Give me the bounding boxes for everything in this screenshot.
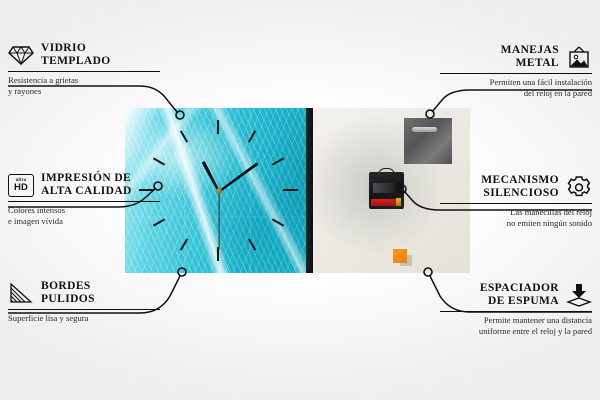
ultra-hd-icon: ultra HD — [8, 172, 34, 198]
feature-subtitle: Colores intensos e imagen vívida — [8, 205, 160, 226]
foam-spacer-pad — [393, 249, 407, 263]
glass-side-edge — [306, 108, 313, 273]
feature-title: VIDRIO TEMPLADO — [41, 42, 111, 68]
foam-spacer-arrow-icon — [566, 282, 592, 308]
feature-subtitle: Superficie lisa y segura — [8, 313, 160, 324]
feature-title: BORDES PULIDOS — [41, 280, 95, 306]
feature-metal-handles: MANEJAS METAL Permiten una fácil instala… — [440, 44, 592, 98]
diamond-icon — [8, 42, 34, 68]
feature-title: MECANISMO SILENCIOSO — [481, 174, 559, 200]
feature-title: MANEJAS METAL — [501, 44, 559, 70]
feature-hd-printing: ultra HD IMPRESIÓN DE ALTA CALIDAD Color… — [8, 172, 160, 226]
feature-divider — [8, 71, 160, 72]
metal-hanger-plate — [404, 118, 452, 164]
feature-subtitle: Permiten una fácil instalación del reloj… — [440, 77, 592, 98]
mechanism-label-detail — [373, 183, 395, 193]
feature-divider — [440, 311, 592, 312]
feature-divider — [440, 73, 592, 74]
ultra-hd-icon-hd-text: HD — [14, 183, 28, 193]
wall-frame-hanger-icon — [566, 44, 592, 70]
feature-tempered-glass: VIDRIO TEMPLADO Resistencia a grietas y … — [8, 42, 160, 96]
feature-polished-edges: BORDES PULIDOS Superficie lisa y segura — [8, 280, 160, 324]
feature-divider — [440, 203, 592, 204]
hanger-keyhole-slot — [412, 127, 437, 132]
battery — [371, 199, 399, 206]
polished-edge-icon — [8, 280, 34, 306]
feature-silent-mechanism: MECANISMO SILENCIOSO Las manecillas del … — [440, 174, 592, 228]
feature-title: IMPRESIÓN DE ALTA CALIDAD — [41, 172, 132, 198]
gear-icon — [566, 174, 592, 200]
feature-subtitle: Las manecillas del reloj no emiten ningú… — [440, 207, 592, 228]
feature-subtitle: Resistencia a grietas y rayones — [8, 75, 160, 96]
feature-title: ESPACIADOR DE ESPUMA — [480, 282, 559, 308]
clock-tick-12 — [217, 120, 219, 134]
clock-tick-3 — [283, 189, 298, 191]
feature-foam-spacer: ESPACIADOR DE ESPUMA Permite mantener un… — [440, 282, 592, 336]
feature-divider — [8, 309, 160, 310]
clock-center-cap — [216, 188, 222, 194]
feature-divider — [8, 201, 160, 202]
product-infographic: VIDRIO TEMPLADO Resistencia a grietas y … — [0, 0, 600, 400]
battery-terminal — [396, 198, 401, 206]
feature-subtitle: Permite mantener una distancia uniforme … — [440, 315, 592, 336]
